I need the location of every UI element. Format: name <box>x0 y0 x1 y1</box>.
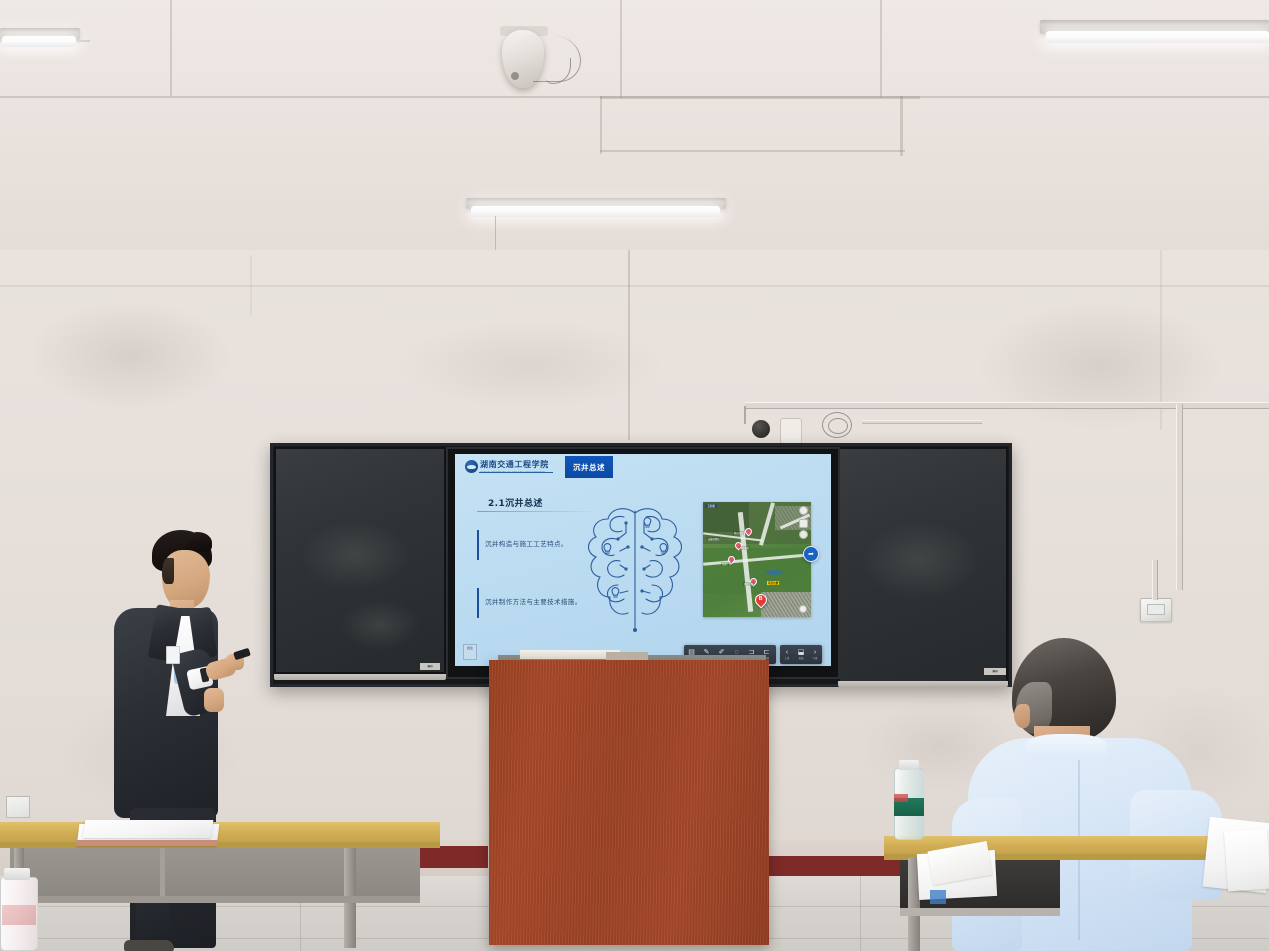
chalk-smudge <box>340 600 420 650</box>
map-layer-control[interactable] <box>799 519 808 528</box>
next-page-label: 下页 <box>813 657 818 660</box>
map-compass-control[interactable] <box>799 506 808 515</box>
page-navigation-toolbar[interactable]: ‹ 上页 ⬓ 页面 › 下页 <box>780 645 822 664</box>
slide-heading: 2.1沉井总述 <box>488 496 543 509</box>
bullet-accent-bar <box>477 530 479 560</box>
desk-left-shelf-divider <box>160 848 165 900</box>
presenter-hair-fringe <box>186 532 212 552</box>
podium-wood-grain <box>489 660 769 945</box>
floor-skirting <box>760 856 900 878</box>
wall-conduit <box>1176 404 1183 590</box>
bottle-cap <box>4 868 30 880</box>
desk-left-top <box>0 822 440 844</box>
camera-bracket <box>744 406 746 424</box>
presenter-sideburn <box>162 558 174 584</box>
light-tube <box>471 206 720 217</box>
map-label: 云集收费站 <box>707 537 720 541</box>
annotate-corner-button[interactable]: 批注 <box>463 644 477 660</box>
chalk-tray <box>274 674 446 680</box>
ceiling-seam <box>170 0 172 96</box>
chalk-smudge <box>300 520 410 590</box>
share-icon: ➦ <box>808 551 814 558</box>
desk-left-crossbar <box>10 896 420 903</box>
wall-camera-mount <box>780 418 802 444</box>
bottle-label <box>2 905 36 925</box>
water-bottle-label-accent <box>894 794 908 802</box>
institution-name-cn: 湖南交通工程学院 <box>480 459 549 470</box>
slide-section-tab[interactable]: 沉井总述 <box>565 456 613 478</box>
paper-folder-left <box>76 840 219 846</box>
ceiling-seam <box>620 0 622 98</box>
presenter-badge <box>166 646 180 664</box>
classroom-scene: ▦▤ ▦▤ 湖南交通工程学院 HUNAN INSTITUTE OF TRAFFI… <box>0 0 1269 951</box>
bullet-text: 沉井构造与施工工艺特点。 <box>485 538 568 548</box>
map-marker-letter: B <box>756 595 766 604</box>
map-locate-control[interactable] <box>799 530 808 539</box>
evaluator-ear <box>1014 704 1030 728</box>
camera-lens <box>511 72 519 80</box>
prev-page-button[interactable]: ‹ 上页 <box>780 645 794 664</box>
wall-seam <box>0 285 1269 287</box>
wall-camera <box>752 420 770 438</box>
annotate-corner-label: 批注 <box>467 646 473 650</box>
presenter-shoe <box>124 940 174 951</box>
chalk-smudge <box>860 520 980 600</box>
bullet-text: 沉井制作方法与主要技术措施。 <box>485 596 582 606</box>
paper-stack-left-top <box>83 820 214 838</box>
wall-seam <box>250 255 252 315</box>
map-label: 高铁新区 <box>739 546 750 550</box>
podium-paper-edge <box>520 650 620 659</box>
slide-section-tab-label: 沉井总述 <box>573 462 605 473</box>
ceiling-panel-edge <box>600 96 602 154</box>
ceiling-panel-edge <box>600 96 920 99</box>
ceiling-panel-edge <box>900 96 903 156</box>
logo-underline <box>479 472 553 473</box>
podium-clutter <box>606 652 648 660</box>
brain-outline-illustration <box>580 499 690 634</box>
map-zoom-control[interactable] <box>799 605 807 613</box>
map-label: 站前广场 <box>721 562 732 566</box>
desk-left-shelf <box>10 848 420 900</box>
map-badge: 卫星图 <box>705 504 717 508</box>
next-page-button[interactable]: › 下页 <box>808 645 822 664</box>
presentation-slide[interactable]: 湖南交通工程学院 HUNAN INSTITUTE OF TRAFFIC ENGI… <box>455 454 831 666</box>
logo-mark-icon <box>465 460 478 473</box>
wall-seam <box>628 250 630 440</box>
map-label: 衡山西站 <box>733 531 744 535</box>
pages-icon: ⬓ <box>798 649 805 656</box>
map-label: 湘江大道 <box>743 582 754 586</box>
bullet-accent-bar <box>477 588 479 618</box>
ceiling-panel-edge <box>600 150 905 152</box>
coiled-cable <box>828 418 848 434</box>
prev-page-label: 上页 <box>785 657 790 660</box>
evaluator-collar <box>1026 734 1106 760</box>
wall-conduit <box>862 420 982 424</box>
light-tube <box>2 36 76 47</box>
presenter-hand-lower <box>204 688 224 712</box>
chevron-right-icon: › <box>814 649 816 656</box>
heading-rule <box>477 511 597 512</box>
chevron-left-icon: ‹ <box>786 649 788 656</box>
page-overview-button[interactable]: ⬓ 页面 <box>794 645 808 664</box>
page-overview-label: 页面 <box>799 657 804 660</box>
share-button[interactable]: ➦ <box>803 546 819 562</box>
wall-socket[interactable] <box>6 796 30 818</box>
floor-skirting <box>418 846 488 868</box>
satellite-map-image[interactable]: B 云集收费站 衡山西站 高铁新区 站前广场 湘江大道 项目位置 卫星图 <box>703 502 811 617</box>
water-bottle-cap <box>899 760 919 770</box>
switch-conduit <box>1152 560 1158 600</box>
map-highlight-label: 项目位置 <box>767 581 779 585</box>
wall-conduit <box>745 402 1269 409</box>
desk-right-blue-item <box>930 890 946 904</box>
board-model-label: ▦▤ <box>420 663 440 670</box>
floor-tile-line <box>860 876 861 951</box>
light-tube <box>1046 31 1269 43</box>
podium <box>489 660 769 945</box>
map-road-water <box>765 570 783 575</box>
ceiling-seam <box>880 0 882 98</box>
desk-right-crossbar <box>900 908 1060 916</box>
paper-right-held-2 <box>1224 829 1269 892</box>
light-switch-rocker[interactable] <box>1147 604 1165 615</box>
